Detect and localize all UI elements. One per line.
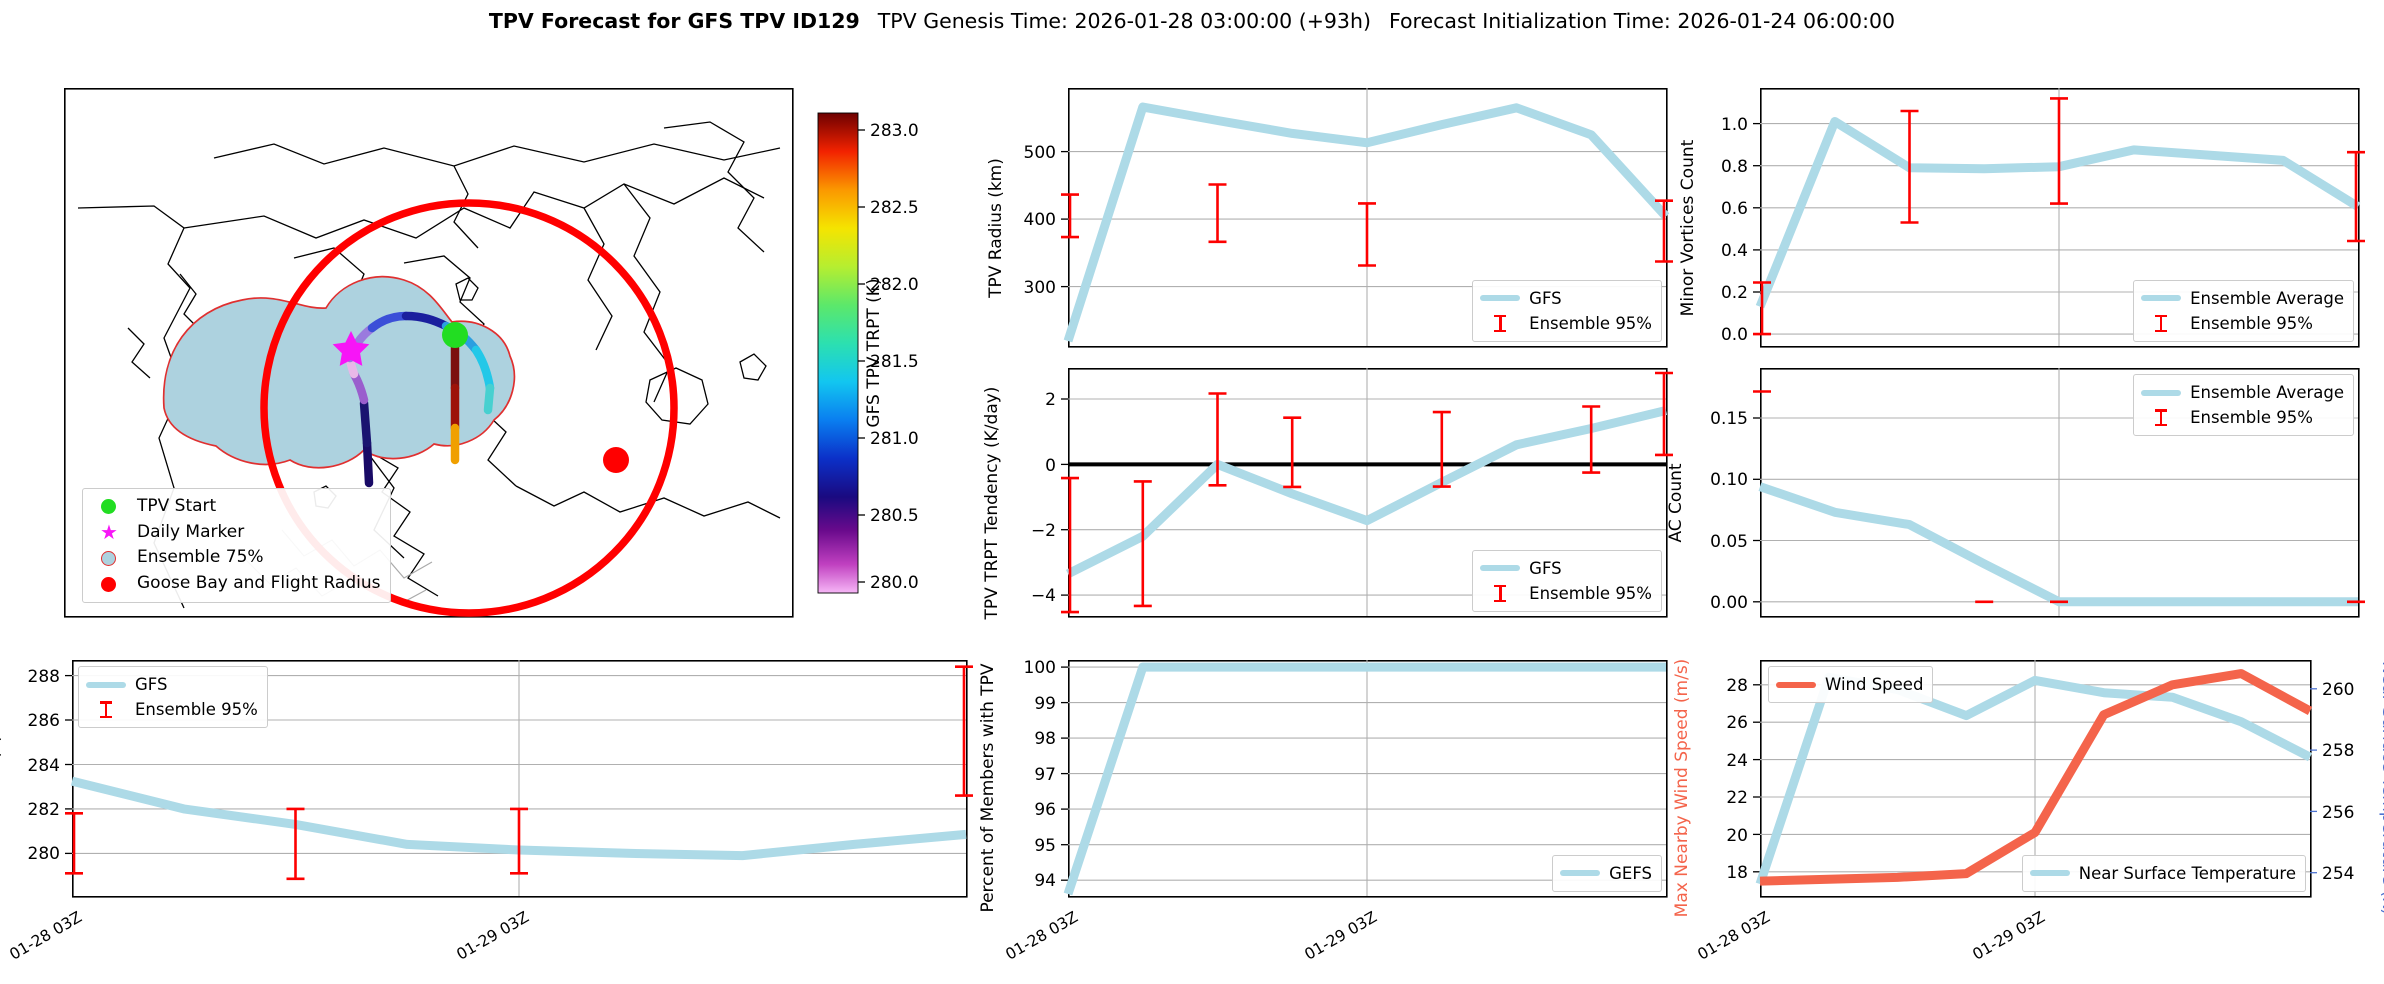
svg-text:99: 99 bbox=[1034, 694, 1056, 714]
legend-item-gefs: GEFS bbox=[1560, 861, 1652, 886]
svg-text:288: 288 bbox=[28, 667, 60, 687]
svg-text:98: 98 bbox=[1034, 729, 1056, 749]
colorbar-panel: 283.0 282.5 282.0 281.5 281.0 280.5 280.… bbox=[818, 88, 948, 618]
svg-text:94: 94 bbox=[1034, 871, 1056, 891]
svg-text:0.8: 0.8 bbox=[1721, 157, 1748, 177]
legend-label: GFS bbox=[135, 672, 167, 697]
svg-text:0.6: 0.6 bbox=[1721, 199, 1748, 219]
line-swatch-icon bbox=[1480, 295, 1520, 301]
legend-label: GFS bbox=[1529, 286, 1561, 311]
tpv-radius-legend: GFS Ensemble 95% bbox=[1472, 280, 1662, 342]
svg-text:254: 254 bbox=[2322, 864, 2354, 884]
svg-text:97: 97 bbox=[1034, 765, 1056, 785]
line-swatch-icon bbox=[1480, 565, 1520, 571]
percent-members-y-label: Percent of Members with TPV bbox=[978, 638, 998, 938]
svg-text:96: 96 bbox=[1034, 800, 1056, 820]
tpv-trpt-legend: GFS Ensemble 95% bbox=[78, 666, 268, 728]
svg-text:95: 95 bbox=[1034, 836, 1056, 856]
daily-marker-icon: ★ bbox=[100, 522, 117, 542]
legend-item-ensemble-75: Ensemble 75% bbox=[90, 545, 381, 571]
svg-text:0.10: 0.10 bbox=[1710, 470, 1748, 490]
goose-bay-marker bbox=[603, 447, 629, 473]
svg-text:1.0: 1.0 bbox=[1721, 115, 1748, 135]
tpv-start-marker bbox=[442, 322, 468, 348]
line-swatch-icon bbox=[2141, 295, 2181, 301]
svg-text:258: 258 bbox=[2322, 741, 2354, 761]
wind-temp-panel[interactable]: 28 26 24 22 20 18 260 258 256 254 Max Ne… bbox=[1760, 660, 2312, 898]
y-tick-labels: 2 0 −2 −4 bbox=[1031, 390, 1068, 606]
errorbar-icon bbox=[2141, 315, 2181, 332]
svg-text:100: 100 bbox=[1024, 658, 1056, 678]
legend-label: Ensemble Average bbox=[2190, 286, 2344, 311]
svg-text:28: 28 bbox=[1726, 676, 1748, 696]
errorbar-icon bbox=[2141, 409, 2181, 426]
map-panel[interactable]: TPV Start ★ Daily Marker Ensemble 75% Go… bbox=[64, 88, 794, 618]
legend-label: Daily Marker bbox=[137, 520, 244, 546]
svg-text:0.4: 0.4 bbox=[1721, 241, 1748, 261]
legend-label: Ensemble 95% bbox=[2190, 311, 2313, 336]
svg-text:300: 300 bbox=[1024, 278, 1056, 298]
near-surface-temp-legend: Near Surface Temperature bbox=[2022, 855, 2306, 892]
line-swatch-icon bbox=[2030, 870, 2070, 876]
svg-text:0.05: 0.05 bbox=[1710, 532, 1748, 552]
percent-members-legend: GEFS bbox=[1552, 855, 1662, 892]
line-swatch-icon bbox=[1560, 870, 1600, 876]
svg-text:−2: −2 bbox=[1031, 521, 1056, 541]
minor-vortices-y-label: Minor Vortices Count bbox=[1678, 108, 1698, 348]
x-tick-label-1: 01-29 03Z bbox=[1267, 908, 1380, 984]
colorbar-gradient bbox=[818, 113, 858, 593]
y-tick-labels: 500 400 300 bbox=[1024, 143, 1068, 298]
y-tick-labels: 100 99 98 97 96 95 94 bbox=[1024, 658, 1068, 891]
legend-label: Goose Bay and Flight Radius bbox=[137, 571, 381, 597]
legend-item-near-surface-temperature: Near Surface Temperature bbox=[2030, 861, 2296, 886]
wind-speed-y-label: Max Nearby Wind Speed (m/s) bbox=[1672, 638, 1692, 938]
legend-label: Ensemble 95% bbox=[2190, 405, 2313, 430]
tpv-radius-panel[interactable]: 500 400 300 TPV Radius (km) GFS Ensemble… bbox=[1068, 88, 1668, 348]
ac-count-legend: Ensemble Average Ensemble 95% bbox=[2133, 374, 2354, 436]
legend-item-goose-bay: Goose Bay and Flight Radius bbox=[90, 571, 381, 597]
colorbar-tick-label: 280.0 bbox=[870, 573, 919, 593]
svg-text:18: 18 bbox=[1726, 863, 1748, 883]
svg-text:0.00: 0.00 bbox=[1710, 593, 1748, 613]
svg-text:22: 22 bbox=[1726, 788, 1748, 808]
line-swatch-icon bbox=[86, 682, 126, 688]
legend-item-wind-speed: Wind Speed bbox=[1776, 672, 1923, 697]
x-tick-label-0: 01-28 03Z bbox=[0, 908, 85, 984]
legend-item-ensemble95: Ensemble 95% bbox=[86, 697, 258, 722]
legend-label: Ensemble 95% bbox=[1529, 581, 1652, 606]
legend-label: GFS bbox=[1529, 556, 1561, 581]
legend-item-daily-marker: ★ Daily Marker bbox=[90, 520, 381, 546]
map-legend: TPV Start ★ Daily Marker Ensemble 75% Go… bbox=[82, 488, 391, 603]
percent-members-panel[interactable]: 100 99 98 97 96 95 94 Percent of Members… bbox=[1068, 660, 1668, 898]
goose-bay-icon bbox=[101, 577, 116, 592]
near-surface-temp-y-label: Near Surface Temperature (K) bbox=[2378, 638, 2384, 938]
svg-text:286: 286 bbox=[28, 711, 60, 731]
minor-vortices-legend: Ensemble Average Ensemble 95% bbox=[2133, 280, 2354, 342]
svg-text:2: 2 bbox=[1045, 390, 1056, 410]
svg-text:0.15: 0.15 bbox=[1710, 409, 1748, 429]
colorbar-tick-label: 280.5 bbox=[870, 506, 919, 526]
line-swatch-icon bbox=[1776, 682, 1816, 688]
tpv-trpt-y-label: TPV TRPT (K) bbox=[0, 690, 4, 890]
legend-item-ensemble-average: Ensemble Average bbox=[2141, 380, 2344, 405]
x-tick-label-1: 01-29 03Z bbox=[419, 908, 532, 984]
errorbar-icon bbox=[86, 701, 126, 718]
legend-item-ensemble95: Ensemble 95% bbox=[2141, 311, 2344, 336]
errorbar-icon bbox=[1480, 315, 1520, 332]
y-tick-labels-right: 260 258 256 254 bbox=[2310, 680, 2354, 884]
legend-item-ensemble-average: Ensemble Average bbox=[2141, 286, 2344, 311]
y-tick-labels: 288 286 284 282 280 bbox=[28, 667, 72, 864]
colorbar-tick-label: 283.0 bbox=[870, 121, 919, 141]
y-tick-labels-left: 28 26 24 22 20 18 bbox=[1726, 676, 1760, 883]
svg-text:24: 24 bbox=[1726, 751, 1748, 771]
line-swatch-icon bbox=[2141, 390, 2181, 396]
legend-label: Ensemble 95% bbox=[135, 697, 258, 722]
svg-text:500: 500 bbox=[1024, 143, 1056, 163]
svg-text:20: 20 bbox=[1726, 826, 1748, 846]
ac-count-y-label: AC Count bbox=[1666, 403, 1686, 603]
svg-text:26: 26 bbox=[1726, 713, 1748, 733]
tpv-trpt-tendency-panel[interactable]: 2 0 −2 −4 TPV TRPT Tendency (K/day) GFS bbox=[1068, 368, 1668, 618]
svg-text:284: 284 bbox=[28, 756, 60, 776]
colorbar-tick-label: 282.5 bbox=[870, 198, 919, 218]
svg-text:256: 256 bbox=[2322, 803, 2354, 823]
svg-text:0.2: 0.2 bbox=[1721, 283, 1748, 303]
legend-item-tpv-start: TPV Start bbox=[90, 494, 381, 520]
tpv-start-icon bbox=[101, 499, 116, 514]
ac-count-panel[interactable]: 0.15 0.10 0.05 0.00 AC Count Ensemble Av… bbox=[1760, 368, 2360, 618]
svg-text:400: 400 bbox=[1024, 210, 1056, 230]
legend-label: Ensemble 95% bbox=[1529, 311, 1652, 336]
legend-label: TPV Start bbox=[137, 494, 216, 520]
title-init-time: Forecast Initialization Time: 2026-01-24… bbox=[1389, 9, 1895, 33]
y-tick-labels: 1.0 0.8 0.6 0.4 0.2 0.0 bbox=[1721, 115, 1760, 345]
legend-item-ensemble95: Ensemble 95% bbox=[1480, 311, 1652, 336]
page-title: TPV Forecast for GFS TPV ID129TPV Genesi… bbox=[0, 9, 2384, 33]
ensemble-75-icon bbox=[101, 551, 116, 566]
tpv-trpt-tendency-y-label: TPV TRPT Tendency (K/day) bbox=[982, 363, 1002, 643]
legend-label: Wind Speed bbox=[1825, 672, 1923, 697]
tpv-trpt-panel[interactable]: 288 286 284 282 280 TPV TRPT (K) GFS Ens… bbox=[72, 660, 968, 898]
legend-label: GEFS bbox=[1609, 861, 1652, 886]
legend-label: Ensemble Average bbox=[2190, 380, 2344, 405]
legend-item-ensemble95: Ensemble 95% bbox=[1480, 581, 1652, 606]
tpv-radius-y-label: TPV Radius (km) bbox=[986, 128, 1006, 328]
legend-item-gfs: GFS bbox=[1480, 286, 1652, 311]
legend-label: Ensemble 75% bbox=[137, 545, 264, 571]
title-main: TPV Forecast for GFS TPV ID129 bbox=[489, 9, 860, 33]
colorbar-axis-label: GFS TPV TRPT (K) bbox=[864, 253, 884, 453]
svg-text:260: 260 bbox=[2322, 680, 2354, 700]
legend-label: Near Surface Temperature bbox=[2079, 861, 2296, 886]
errorbar-icon bbox=[1480, 585, 1520, 602]
title-genesis-time: TPV Genesis Time: 2026-01-28 03:00:00 (+… bbox=[878, 9, 1371, 33]
minor-vortices-panel[interactable]: 1.0 0.8 0.6 0.4 0.2 0.0 Minor Vortices C… bbox=[1760, 88, 2360, 348]
y-tick-labels: 0.15 0.10 0.05 0.00 bbox=[1710, 409, 1760, 613]
svg-text:0.0: 0.0 bbox=[1721, 325, 1748, 345]
svg-text:282: 282 bbox=[28, 800, 60, 820]
legend-item-ensemble95: Ensemble 95% bbox=[2141, 405, 2344, 430]
svg-text:0: 0 bbox=[1045, 456, 1056, 476]
legend-item-gfs: GFS bbox=[86, 672, 258, 697]
svg-text:−4: −4 bbox=[1031, 586, 1056, 606]
svg-text:280: 280 bbox=[28, 844, 60, 864]
tpv-trpt-tendency-legend: GFS Ensemble 95% bbox=[1472, 550, 1662, 612]
x-tick-label-1: 01-29 03Z bbox=[1935, 908, 2048, 984]
wind-speed-legend: Wind Speed bbox=[1768, 666, 1933, 703]
legend-item-gfs: GFS bbox=[1480, 556, 1652, 581]
